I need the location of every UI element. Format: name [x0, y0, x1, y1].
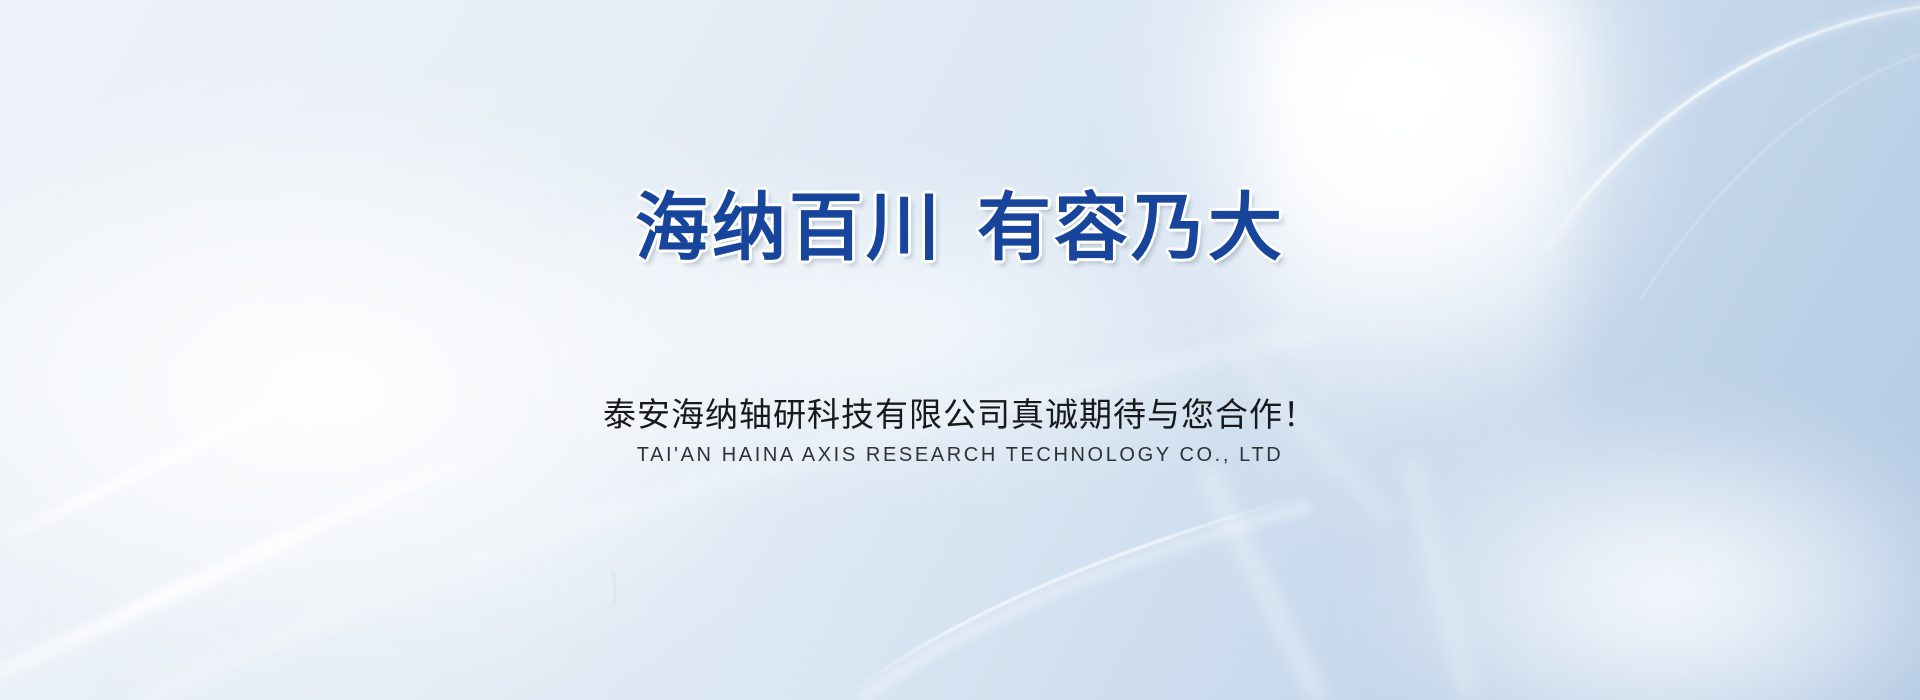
headline-part-2: 有容乃大	[977, 185, 1285, 271]
banner-subtitle-chinese: 泰安海纳轴研科技有限公司真诚期待与您合作！	[0, 388, 1920, 436]
banner-subtitle-english: TAI'AN HAINA AXIS RESEARCH TECHNOLOGY CO…	[0, 444, 1920, 467]
headline-part-1: 海纳百川	[635, 185, 943, 271]
banner-headline: 海纳百川有容乃大	[0, 168, 1920, 275]
banner-content: 海纳百川有容乃大 泰安海纳轴研科技有限公司真诚期待与您合作！ TAI'AN HA…	[0, 0, 1920, 700]
hero-banner: 海纳百川有容乃大 泰安海纳轴研科技有限公司真诚期待与您合作！ TAI'AN HA…	[0, 0, 1920, 700]
